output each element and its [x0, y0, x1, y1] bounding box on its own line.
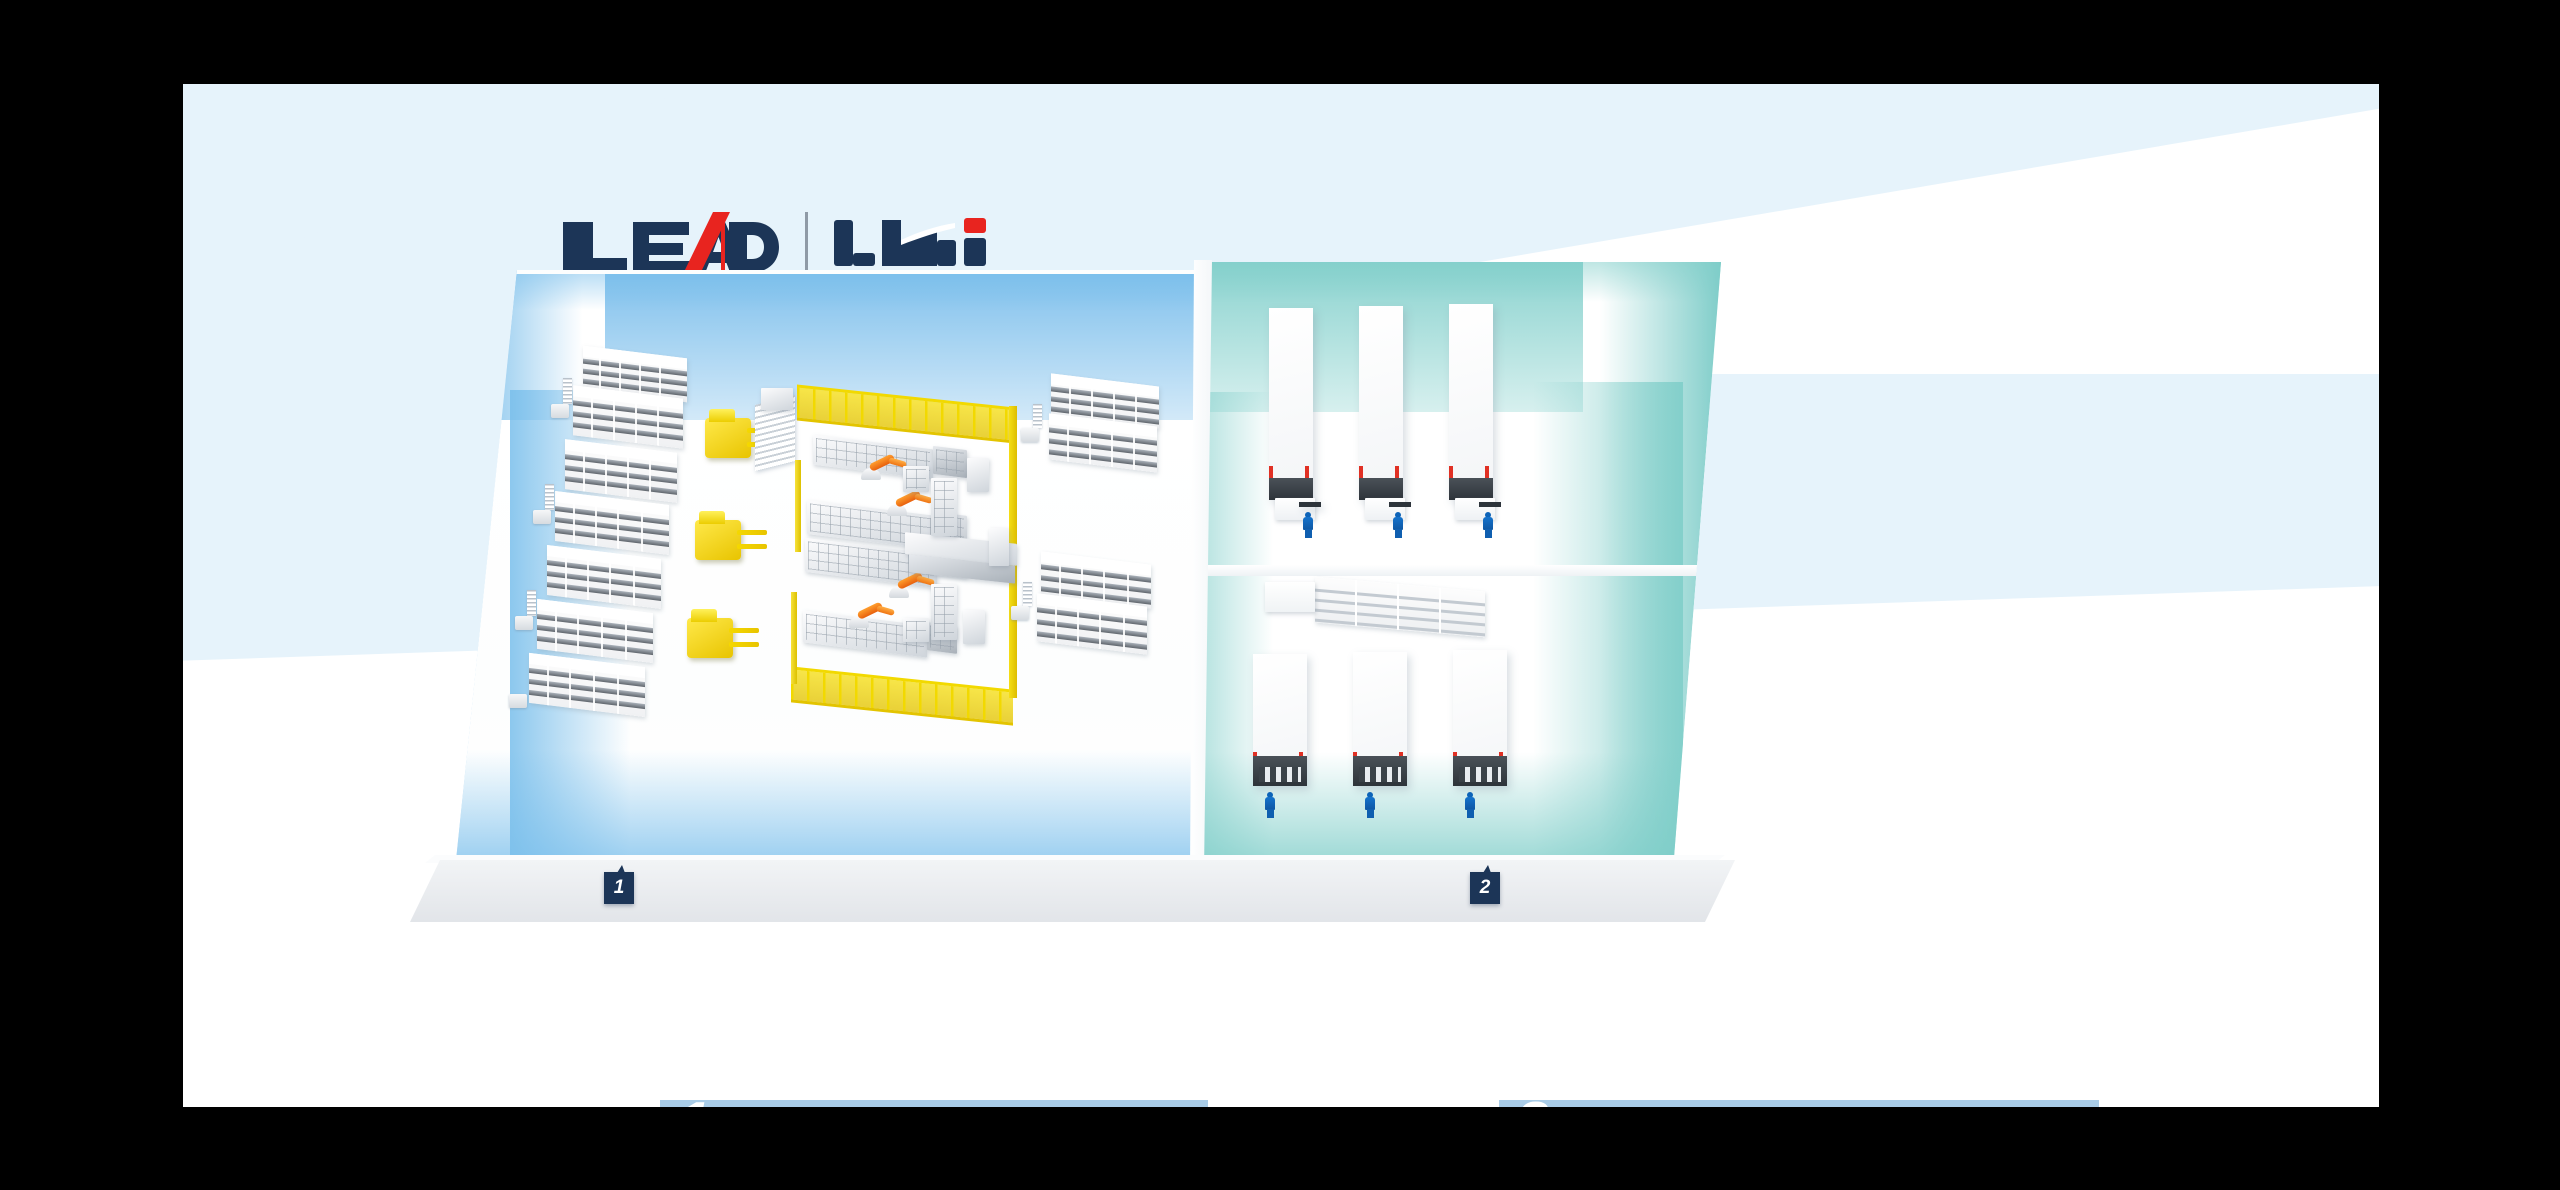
zone-badge-2[interactable]: 2 — [1470, 872, 1500, 904]
caption-2-numeral: 2 — [1499, 1100, 1577, 1107]
lead-lhi-logo — [561, 212, 986, 274]
test-chamber — [1269, 308, 1313, 500]
operator — [1465, 792, 1475, 818]
test-chamber — [1253, 654, 1307, 786]
test-chamber — [1353, 652, 1407, 786]
zone-1-assembly-hall[interactable] — [455, 270, 1195, 870]
presentation-slide: 1 2 1 Stack & System Assembly 2 Stack Ac… — [183, 84, 2379, 1107]
logo-divider — [805, 212, 808, 274]
caption-1-number: 1 — [676, 1094, 708, 1107]
test-chamber — [1449, 304, 1493, 500]
chamber-control-panel — [1389, 502, 1411, 507]
zone-2-test-hall[interactable] — [1203, 262, 1721, 870]
zone-badge-1[interactable]: 1 — [604, 872, 634, 904]
caption-zone-2[interactable]: 2 Stack Activation & Test Station — [1499, 1100, 2099, 1107]
shelf-end-panel — [1265, 582, 1315, 612]
caption-zone-1[interactable]: 1 Stack & System Assembly — [660, 1100, 1208, 1107]
zone-badge-2-label: 2 — [1480, 877, 1491, 899]
operator — [1265, 792, 1275, 818]
factory-floor-plan-3d: 1 2 — [455, 270, 1707, 1010]
zone-2-partition-wall — [1203, 565, 1703, 576]
caption-2-number: 2 — [1515, 1094, 1547, 1107]
zone-1-rim — [455, 270, 1195, 870]
test-chamber — [1453, 650, 1507, 786]
operator — [1483, 512, 1493, 538]
chamber-control-panel — [1479, 502, 1501, 507]
chamber-control-panel — [1299, 502, 1321, 507]
zone-badge-1-label: 1 — [614, 877, 625, 899]
operator — [1393, 512, 1403, 538]
operator — [1303, 512, 1313, 538]
lhi-wordmark — [834, 214, 986, 272]
lead-wordmark — [561, 212, 779, 274]
zone-2-glow-top — [1203, 262, 1721, 302]
screenshot-stage: 1 2 1 Stack & System Assembly 2 Stack Ac… — [0, 0, 2560, 1190]
test-chamber — [1359, 306, 1403, 500]
caption-1-numeral: 1 — [660, 1100, 738, 1107]
operator — [1365, 792, 1375, 818]
